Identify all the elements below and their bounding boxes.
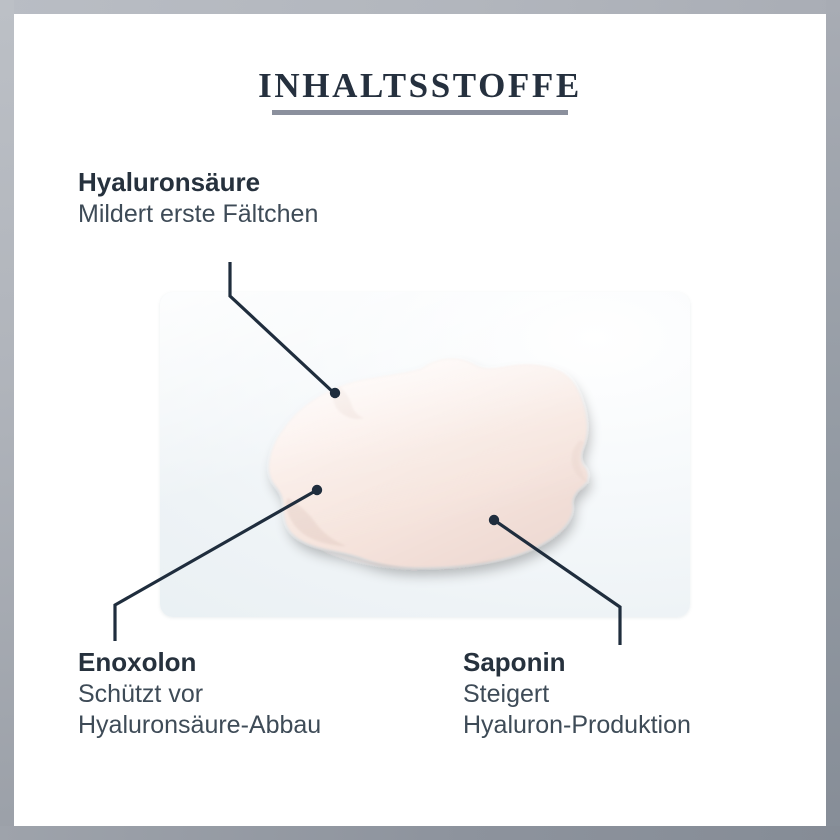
- callout-description-enoxolon: Schützt vor Hyaluronsäure-Abbau: [78, 679, 321, 740]
- frame-border-top: [0, 0, 840, 14]
- ingredients-infographic: INHALTSSTOFFE: [0, 0, 840, 840]
- callout-hyaluronsaeure: Hyaluronsäure Mildert erste Fältchen: [78, 168, 318, 230]
- frame-border-right: [826, 0, 840, 840]
- frame-border-left: [0, 0, 14, 840]
- callout-title-enoxolon: Enoxolon: [78, 648, 321, 677]
- panel-sheen-overlay: [160, 292, 690, 617]
- title-underline-rule: [272, 110, 568, 115]
- product-photo-panel: [160, 292, 690, 617]
- callout-description-hyaluronsaeure: Mildert erste Fältchen: [78, 199, 318, 230]
- page-title: INHALTSSTOFFE: [0, 68, 840, 103]
- page-title-text: INHALTSSTOFFE: [258, 68, 582, 103]
- callout-saponin: Saponin Steigert Hyaluron-Produktion: [463, 648, 691, 740]
- callout-title-saponin: Saponin: [463, 648, 691, 677]
- callout-title-hyaluronsaeure: Hyaluronsäure: [78, 168, 318, 197]
- callout-description-saponin: Steigert Hyaluron-Produktion: [463, 679, 691, 740]
- frame-border-bottom: [0, 826, 840, 840]
- callout-enoxolon: Enoxolon Schützt vor Hyaluronsäure-Abbau: [78, 648, 321, 740]
